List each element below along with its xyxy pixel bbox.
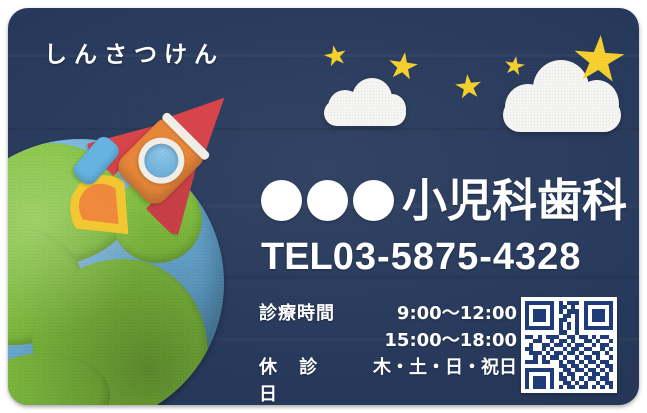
hours-value: 15:00〜18:00: [355, 327, 517, 354]
name-placeholder-dot: [307, 180, 348, 221]
hours-row: 診療時間 9:00〜12:00: [259, 300, 517, 327]
hours-row: 15:00〜18:00: [259, 327, 517, 354]
tel-number: 03-5875-4328: [333, 236, 582, 278]
opening-hours-block: 診療時間 9:00〜12:00 15:00〜18:00 休 診 日 木・土・日・…: [259, 300, 517, 405]
name-placeholder-dot: [353, 180, 394, 221]
closed-days-label: 休 診 日: [259, 354, 355, 405]
hours-label: 診療時間: [259, 300, 355, 327]
clinic-name-row: 小児科歯科: [261, 178, 627, 223]
name-placeholder-dot: [261, 180, 302, 221]
business-card: しんさつけん: [8, 8, 639, 405]
tel-label: TEL: [261, 236, 333, 278]
telephone-line: TEL03-5875-4328: [261, 236, 581, 279]
closed-days-row: 休 診 日 木・土・日・祝日: [259, 354, 517, 405]
cloud-icon: [324, 78, 406, 126]
qr-code[interactable]: [521, 297, 617, 393]
clinic-name: 小児科歯科: [402, 178, 627, 223]
closed-days-value: 木・土・日・祝日: [355, 354, 517, 381]
hours-value: 9:00〜12:00: [355, 300, 517, 327]
card-kana-title: しんさつけん: [44, 35, 224, 69]
qr-matrix: [525, 301, 613, 389]
